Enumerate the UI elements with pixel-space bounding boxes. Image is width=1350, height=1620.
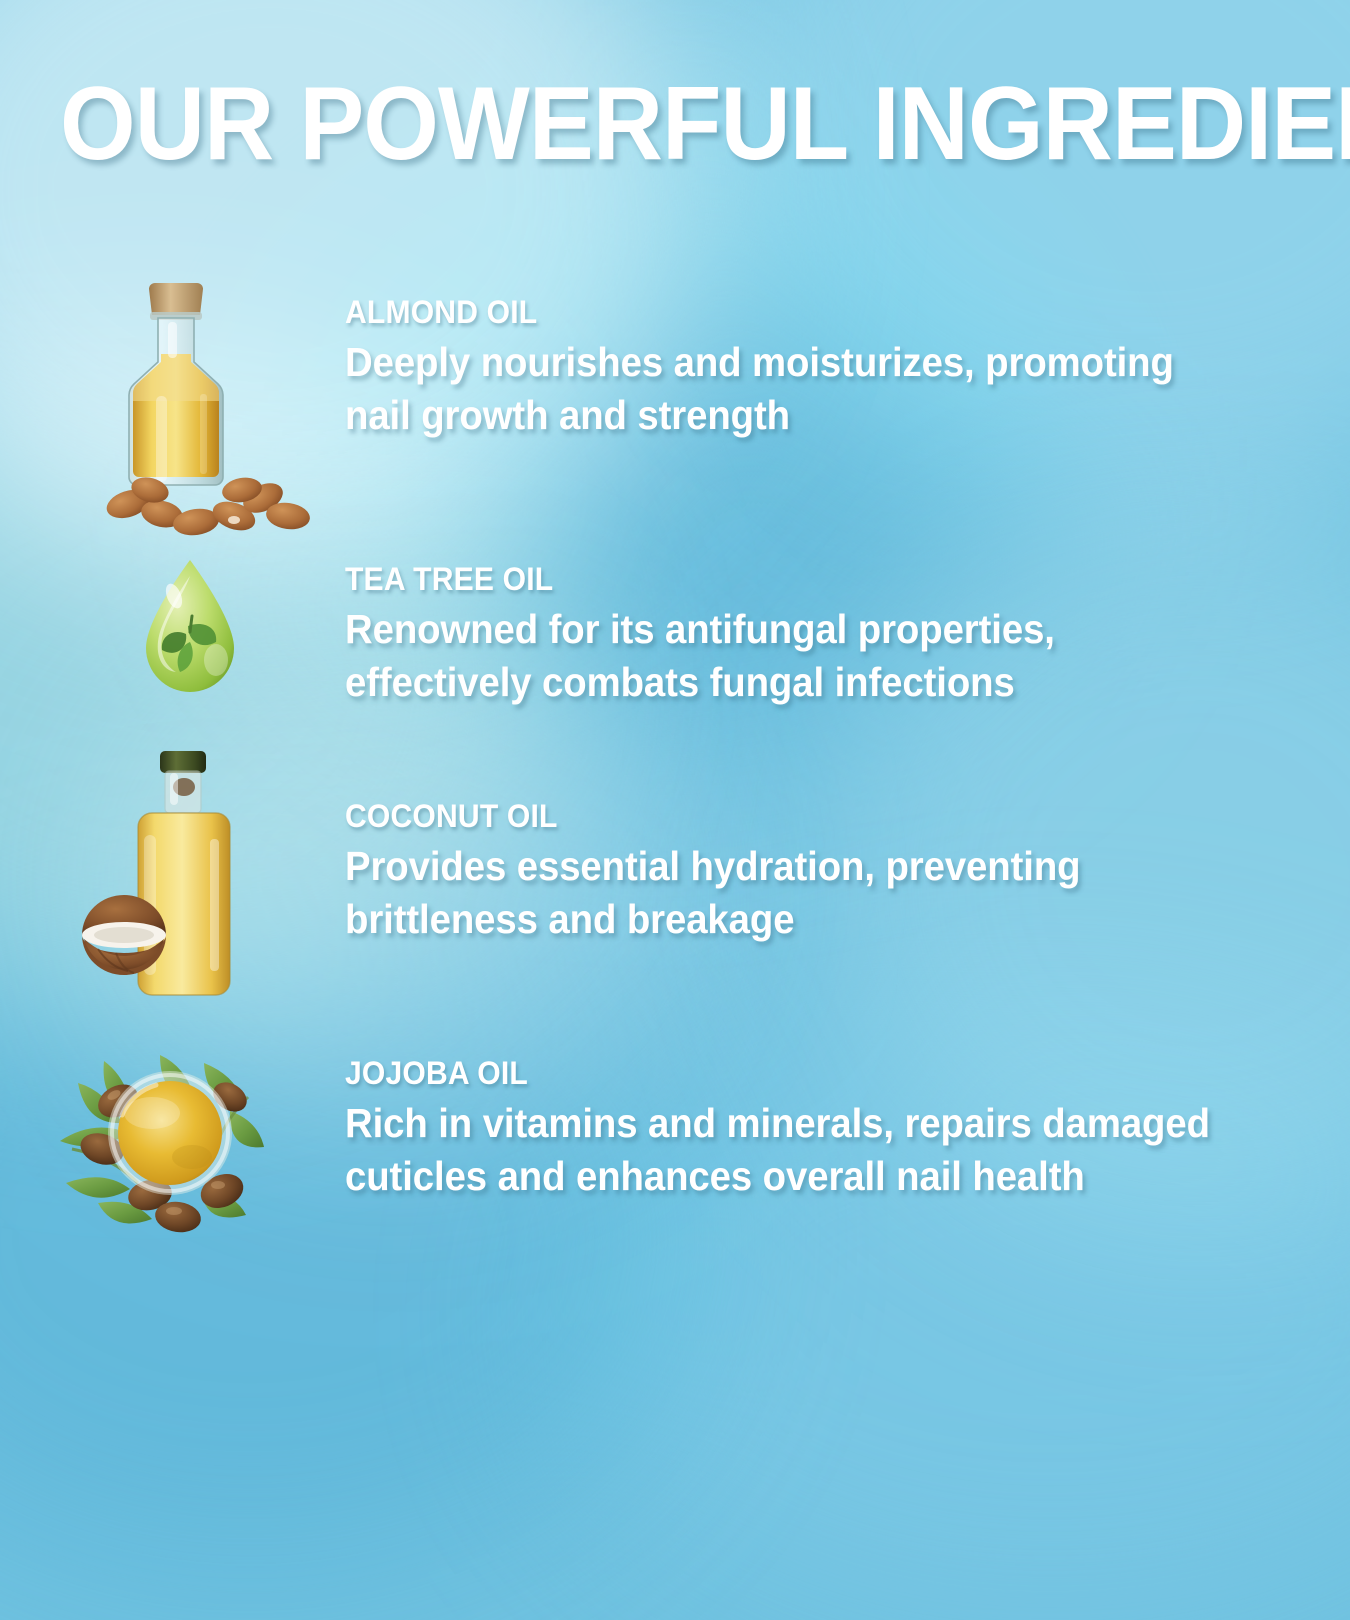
almond-oil-bottle-with-almonds-image [92, 276, 332, 551]
ingredient-description-line: effectively combats fungal infections [345, 656, 1271, 709]
ingredient-description-line: nail growth and strength [345, 389, 1271, 442]
coconut-oil-bottle-image [72, 743, 272, 1015]
tea-tree-oil-droplet-image [126, 554, 256, 714]
ingredient-description: Deeply nourishes and moisturizes, promot… [345, 336, 1271, 443]
ingredient-description-line: brittleness and breakage [345, 893, 1271, 946]
ingredient-title: TEA TREE OIL [345, 563, 1276, 596]
ingredient-description: Renowned for its antifungal properties, … [345, 603, 1271, 710]
ingredient-title: JOJOBA OIL [345, 1057, 1276, 1090]
ingredient-title: ALMOND OIL [345, 296, 1276, 329]
ingredient-description-line: cuticles and enhances overall nail healt… [345, 1150, 1271, 1203]
ingredient-description: Rich in vitamins and minerals, repairs d… [345, 1097, 1271, 1204]
ingredient-description-line: Renowned for its antifungal properties, [345, 603, 1271, 656]
ingredient-title: COCONUT OIL [345, 800, 1276, 833]
ingredient-description: Provides essential hydration, preventing… [345, 840, 1271, 947]
ingredient-description-line: Provides essential hydration, preventing [345, 840, 1271, 893]
ingredient-description-line: Deeply nourishes and moisturizes, promot… [345, 336, 1271, 389]
ingredient-description-line: Rich in vitamins and minerals, repairs d… [345, 1097, 1271, 1150]
page-title: OUR POWERFUL INGREDIENTS [60, 72, 1219, 176]
jojoba-oil-bowl-image [52, 1045, 292, 1245]
